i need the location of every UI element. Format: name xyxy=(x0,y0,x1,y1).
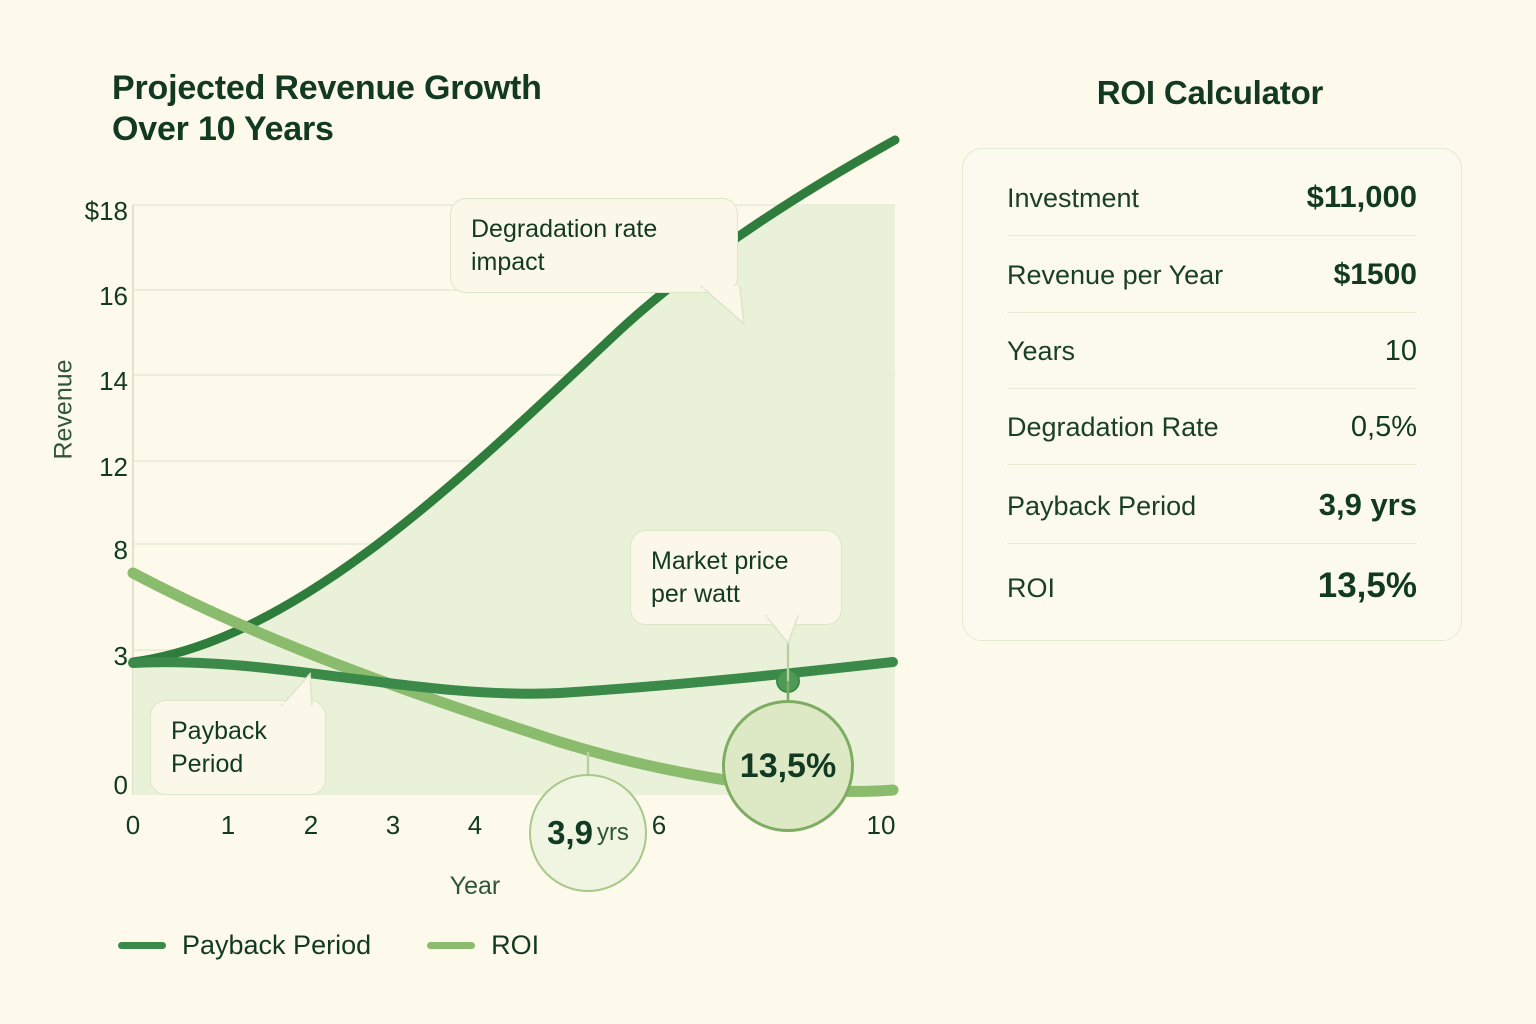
x-tick-2: 2 xyxy=(288,810,334,841)
payback-bubble-unit: yrs xyxy=(597,819,629,847)
roi-row-revenue-per-year: Revenue per Year $1500 xyxy=(1007,236,1417,313)
roi-value-revenue-per-year: $1500 xyxy=(1334,258,1417,292)
legend-item-payback-period[interactable]: Payback Period xyxy=(118,930,371,961)
legend-item-roi[interactable]: ROI xyxy=(427,930,539,961)
callout-market-price: Market price per watt xyxy=(630,530,842,625)
roi-calculator-panel: ROI Calculator Investment $11,000 Revenu… xyxy=(940,0,1536,1024)
roi-row-investment: Investment $11,000 xyxy=(1007,157,1417,236)
roi-key-degradation-rate: Degradation Rate xyxy=(1007,412,1219,443)
roi-key-years: Years xyxy=(1007,336,1075,367)
chart-legend: Payback Period ROI xyxy=(118,930,539,961)
plot-area xyxy=(0,0,940,1024)
x-tick-1: 1 xyxy=(205,810,251,841)
roi-row-roi: ROI 13,5% xyxy=(1007,544,1417,626)
roi-bubble[interactable]: 13,5% xyxy=(722,700,854,832)
x-tick-10: 10 xyxy=(858,810,904,841)
roi-value-payback-period: 3,9 yrs xyxy=(1319,487,1417,523)
roi-calculator-title: ROI Calculator xyxy=(940,74,1480,112)
x-tick-3: 3 xyxy=(370,810,416,841)
x-tick-4: 4 xyxy=(452,810,498,841)
page-root: Projected Revenue Growth Over 10 Years R… xyxy=(0,0,1536,1024)
roi-bubble-value: 13,5% xyxy=(740,747,836,786)
roi-value-years: 10 xyxy=(1385,335,1417,368)
x-tick-0: 0 xyxy=(110,810,156,841)
roi-row-degradation-rate: Degradation Rate 0,5% xyxy=(1007,389,1417,465)
roi-key-revenue-per-year: Revenue per Year xyxy=(1007,260,1223,291)
roi-key-payback-period: Payback Period xyxy=(1007,491,1196,522)
roi-calculator-card: Investment $11,000 Revenue per Year $150… xyxy=(962,148,1462,641)
roi-row-payback-period: Payback Period 3,9 yrs xyxy=(1007,465,1417,544)
callout-degradation-tail xyxy=(700,286,746,326)
roi-row-years: Years 10 xyxy=(1007,313,1417,389)
legend-label-payback-period: Payback Period xyxy=(182,930,371,961)
roi-value-investment: $11,000 xyxy=(1307,179,1417,215)
callout-payback-period-tail xyxy=(278,672,320,706)
callout-market-price-tail xyxy=(764,615,804,645)
legend-label-roi: ROI xyxy=(491,930,539,961)
roi-value-roi: 13,5% xyxy=(1318,566,1417,606)
chart-panel: Projected Revenue Growth Over 10 Years R… xyxy=(0,0,940,1024)
callout-payback-period: Payback Period xyxy=(150,700,326,795)
x-axis-label: Year xyxy=(410,872,540,901)
payback-bubble-value: 3,9 xyxy=(547,814,593,852)
legend-swatch-payback-period xyxy=(118,942,166,949)
callout-degradation-rate: Degradation rate impact xyxy=(450,198,738,293)
roi-key-roi: ROI xyxy=(1007,573,1055,604)
roi-value-degradation-rate: 0,5% xyxy=(1351,411,1417,444)
payback-period-bubble[interactable]: 3,9 yrs xyxy=(529,774,647,892)
legend-swatch-roi xyxy=(427,942,475,949)
roi-key-investment: Investment xyxy=(1007,183,1139,214)
